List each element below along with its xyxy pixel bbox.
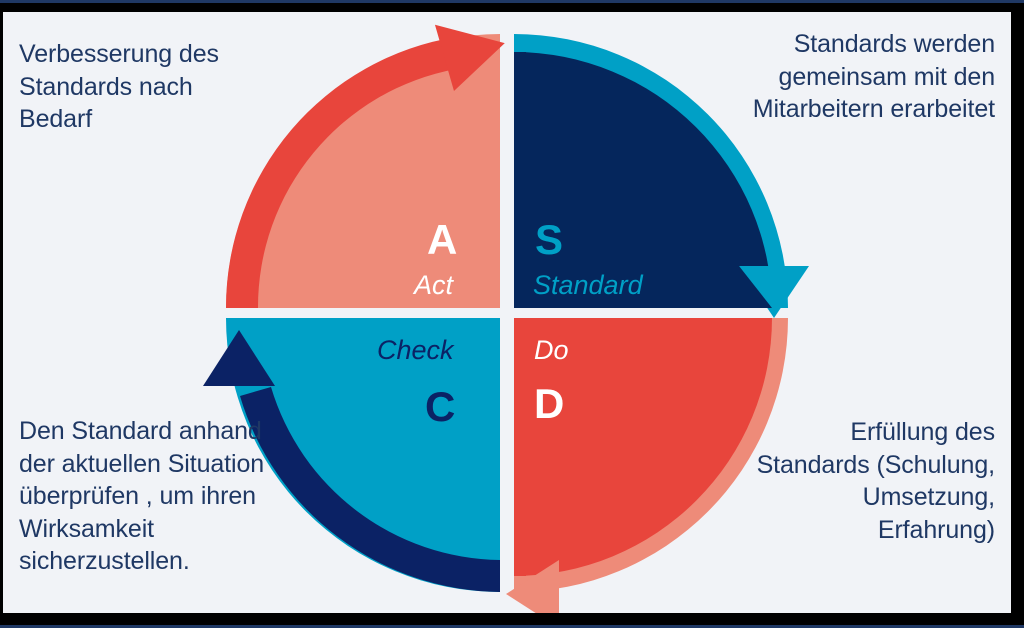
label-word-act: Act (414, 272, 453, 299)
slide-frame: Verbesserung des Standards nach Bedarf S… (0, 0, 1024, 628)
label-letter-do: D (534, 383, 564, 425)
label-word-standard: Standard (533, 272, 643, 299)
label-word-check: Check (377, 337, 454, 364)
label-letter-check: C (425, 386, 455, 428)
do-fill-corner (514, 318, 526, 576)
standard-fill-corner (514, 52, 526, 308)
quadrant-act (226, 12, 514, 308)
label-letter-act: A (427, 219, 457, 261)
caption-standard: Standards werden gemeinsam mit den Mitar… (735, 28, 995, 126)
label-letter-standard: S (535, 219, 563, 261)
top-edge-line (0, 0, 1024, 3)
caption-check: Den Standard anhand der aktuellen Situat… (19, 415, 274, 578)
caption-act: Verbesserung des Standards nach Bedarf (19, 38, 269, 136)
label-word-do: Do (534, 337, 569, 364)
caption-do: Erfüllung des Standards (Schulung, Umset… (745, 416, 995, 546)
slide-canvas: Verbesserung des Standards nach Bedarf S… (3, 12, 1011, 613)
